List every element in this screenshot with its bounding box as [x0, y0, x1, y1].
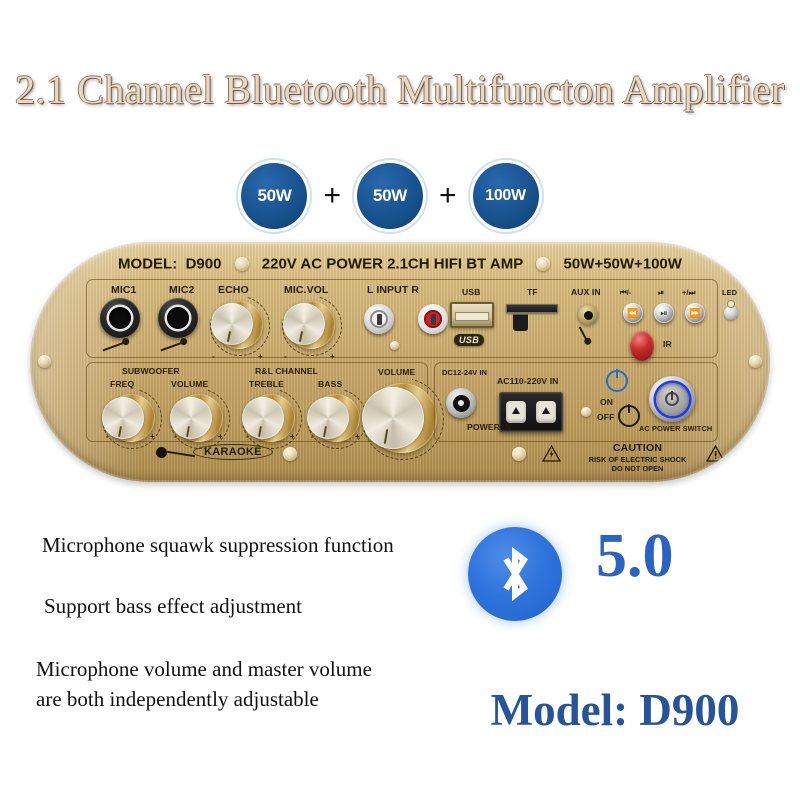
plus-sign-2: + — [437, 181, 459, 211]
power-badge-3-label: 100W — [485, 187, 526, 205]
master-volume-knob[interactable] — [367, 383, 437, 453]
mic1-jack[interactable] — [100, 298, 140, 338]
subwoofer-freq-knob[interactable] — [107, 394, 155, 442]
ir-receiver — [630, 331, 654, 361]
rca-input-left[interactable] — [364, 304, 394, 334]
panel-screw-mid — [390, 341, 399, 350]
prev-button-label: ⏮/- — [620, 288, 631, 298]
power-on-icon — [606, 370, 628, 392]
mic-volume-label: MIC.VOL — [284, 284, 328, 296]
bass-plus: + — [355, 432, 360, 441]
echo-label: ECHO — [218, 284, 249, 296]
product-image: 2.1 Channel Bluetooth Multifuncton Ampli… — [0, 0, 800, 800]
board-spec: 220V AC POWER 2.1CH HIFI BT AMP — [262, 256, 523, 273]
usb-badge: USB — [454, 334, 484, 346]
caution-text: CAUTION RISK OF ELECTRIC SHOCK DO NOT OP… — [570, 442, 705, 473]
play-pause-button[interactable]: ⏯ — [654, 303, 674, 323]
model-footer: Model: D900 — [440, 684, 790, 736]
aux-in-jack[interactable] — [578, 305, 598, 325]
feature-line-4: are both independently adjustable — [36, 687, 319, 712]
usb-label: USB — [462, 287, 480, 297]
ac-power-switch-label: AC POWER SWITCH — [639, 424, 712, 433]
bluetooth-logo — [468, 527, 562, 621]
next-track-button[interactable]: ⏩ — [685, 303, 705, 323]
treble-plus: + — [290, 432, 295, 441]
screw-hole-top-right — [536, 257, 550, 271]
amplifier-board: MODEL: D900 220V AC POWER 2.1CH HIFI BT … — [30, 242, 770, 482]
treble-minus: - — [246, 432, 249, 441]
shock-warning-icon — [542, 445, 561, 462]
freq-plus: + — [150, 432, 155, 441]
mic1-label: MIC1 — [111, 284, 137, 296]
tf-label: TF — [527, 287, 538, 297]
freq-minus: - — [106, 432, 109, 441]
board-top-bar: MODEL: D900 220V AC POWER 2.1CH HIFI BT … — [30, 255, 770, 273]
mic2-jack[interactable] — [158, 298, 198, 338]
board-power-rating: 50W+50W+100W — [564, 256, 682, 273]
on-label: ON — [600, 397, 613, 407]
mounting-screw-left — [38, 355, 51, 368]
mic-volume-plus: + — [330, 352, 335, 361]
sub-volume-plus: + — [218, 432, 223, 441]
led-label: LED — [722, 288, 737, 297]
mic-volume-minus: - — [284, 352, 287, 361]
bass-knob[interactable] — [312, 394, 360, 442]
prev-track-button[interactable]: ⏪ — [623, 303, 643, 323]
freq-label: FREQ — [110, 379, 134, 389]
karaoke-mark-line — [167, 451, 195, 457]
echo-minus: - — [212, 352, 215, 361]
power-badge-2-label: 50W — [373, 186, 407, 206]
screw-hole-top-left — [235, 257, 249, 271]
ir-label: IR — [663, 339, 672, 349]
aux-in-label: AUX IN — [571, 287, 601, 297]
led-indicator[interactable] — [724, 306, 738, 320]
power-badge-1-label: 50W — [257, 186, 291, 206]
power-off-icon — [618, 405, 640, 427]
treble-label: TREBLE — [249, 379, 284, 389]
ac-input-label: AC110-220V IN — [497, 376, 559, 386]
power-badge-3: 100W — [473, 163, 539, 229]
master-volume-label: VOLUME — [378, 367, 415, 377]
tf-card-icon — [513, 314, 528, 331]
dc-power-jack[interactable] — [446, 388, 476, 418]
karaoke-mark-dot — [156, 447, 167, 458]
sub-volume-label: VOLUME — [171, 379, 208, 389]
mounting-screw-right — [749, 355, 762, 368]
ac-power-switch[interactable] — [649, 376, 695, 422]
echo-knob[interactable] — [215, 301, 263, 349]
bass-minus: - — [311, 432, 314, 441]
rl-channel-group-label: R&L CHANNEL — [255, 366, 318, 376]
bass-label: BASS — [318, 379, 342, 389]
power-badge-group: 50W + 50W + 100W — [190, 152, 590, 240]
caution-line-2: DO NOT OPEN — [612, 464, 664, 473]
screw-hole-bottom-left — [283, 447, 297, 461]
sub-volume-minus: - — [174, 432, 177, 441]
treble-knob[interactable] — [247, 394, 295, 442]
subwoofer-volume-knob[interactable] — [175, 394, 223, 442]
rca-input-right[interactable] — [418, 304, 448, 334]
general-warning-icon — [706, 445, 725, 462]
dc-input-label: DC12-24V IN — [442, 368, 487, 377]
mic-volume-knob[interactable] — [287, 301, 335, 349]
subwoofer-group-label: SUBWOOFER — [122, 366, 180, 376]
bluetooth-icon — [493, 543, 537, 605]
next-button-label: +/⏭ — [682, 288, 695, 298]
echo-plus: + — [258, 352, 263, 361]
screw-hole-bottom-right — [512, 447, 526, 461]
bluetooth-version: 5.0 — [596, 525, 674, 587]
power-in-label: POWER IN — [467, 422, 511, 432]
plus-sign-1: + — [321, 181, 343, 211]
page-title: 2.1 Channel Bluetooth Multifuncton Ampli… — [0, 66, 800, 113]
power-badge-2: 50W — [357, 163, 423, 229]
play-button-label: ⏯ — [658, 288, 664, 298]
feature-line-2: Support bass effect adjustment — [44, 594, 302, 619]
mic2-label: MIC2 — [169, 284, 195, 296]
caution-line-1: RISK OF ELECTRIC SHOCK — [589, 455, 687, 464]
model-value: D900 — [186, 256, 222, 273]
usb-port[interactable] — [450, 302, 494, 328]
model-label: MODEL: — [118, 256, 177, 273]
power-badge-1: 50W — [241, 163, 307, 229]
caution-title: CAUTION — [570, 442, 705, 455]
feature-line-3: Microphone volume and master volume — [36, 657, 372, 682]
feature-line-1: Microphone squawk suppression function — [42, 533, 394, 558]
off-label: OFF — [597, 412, 614, 422]
karaoke-badge: KARAOKE — [193, 444, 273, 460]
tf-card-slot[interactable] — [506, 304, 558, 313]
power-panel-screw — [581, 407, 591, 417]
line-input-label: L INPUT R — [367, 284, 419, 296]
